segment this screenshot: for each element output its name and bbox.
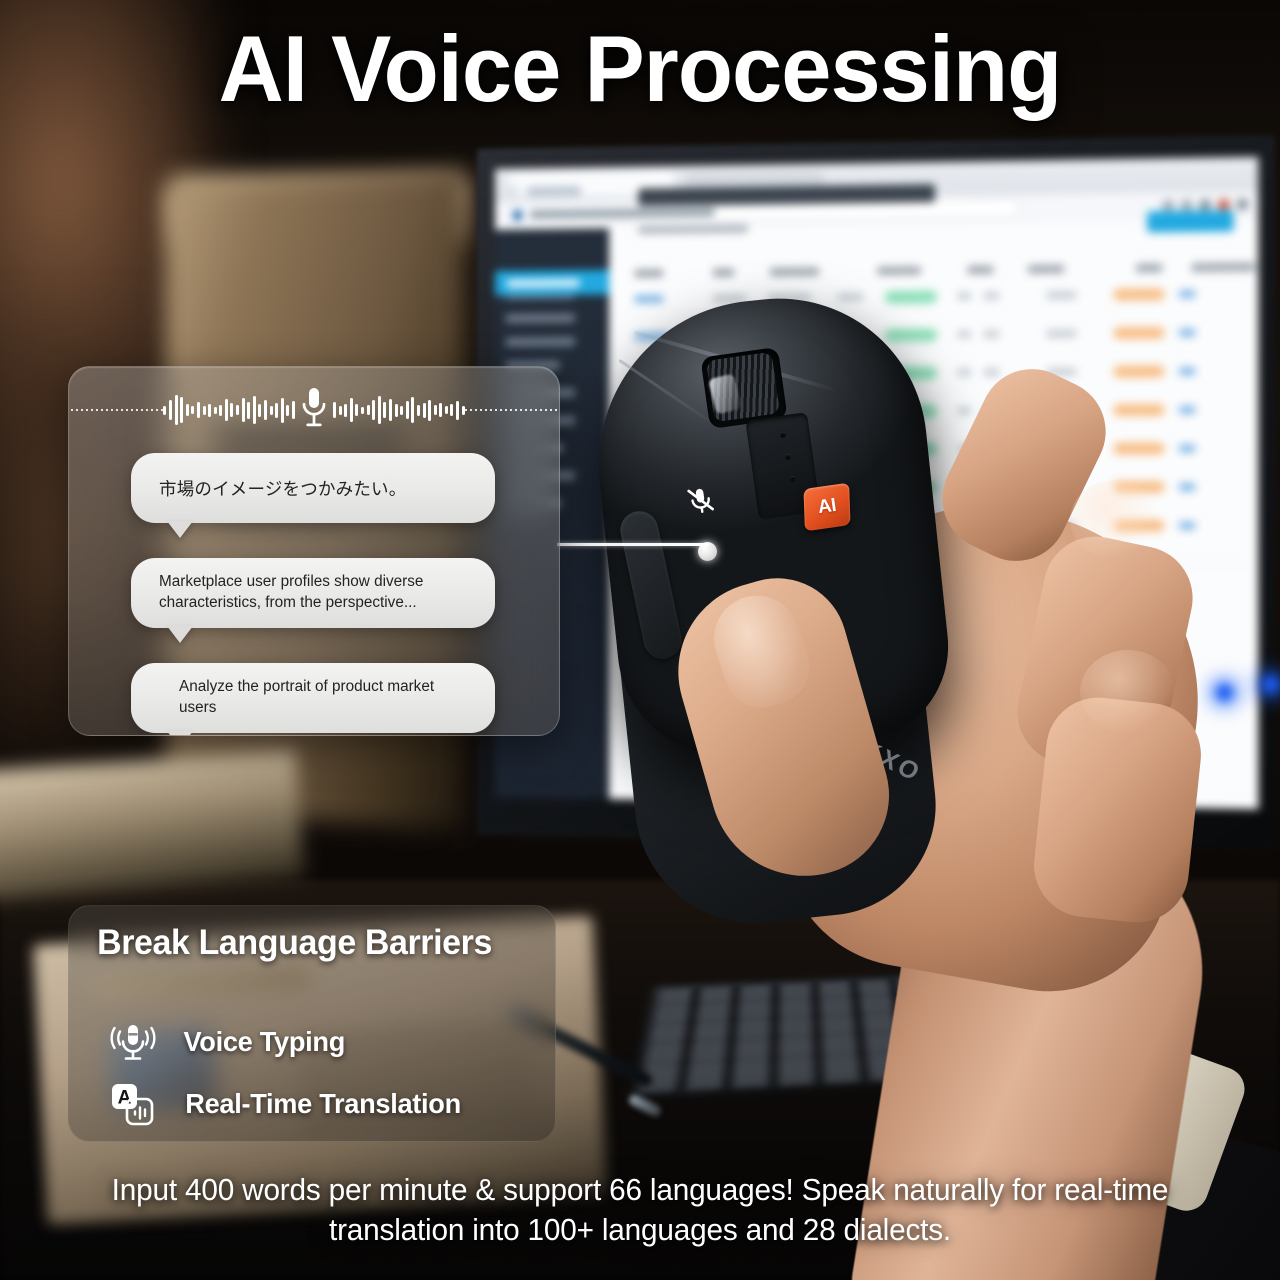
mic-mute-icon <box>684 483 719 522</box>
waveform-dots-right <box>465 409 557 411</box>
knuckle-highlight <box>1080 650 1176 734</box>
feature-row-voice-typing: Voice Typing <box>107 1016 348 1068</box>
microphone-waves-icon <box>107 1016 159 1068</box>
bottom-caption: Input 400 words per minute & support 66 … <box>64 1170 1216 1249</box>
chat-bubble: Marketplace user profiles show diverse c… <box>131 558 495 628</box>
feature-row-translation: A Real-Time Translation <box>107 1078 465 1130</box>
bubble-tail <box>167 731 193 736</box>
microphone-icon <box>299 386 329 435</box>
hand-holding-mouse: AI M IKXO <box>600 180 1280 1240</box>
svg-text:A: A <box>118 1088 132 1109</box>
sidebar-logo-text <box>527 186 581 196</box>
product-marketing-image: AI M IKXO AI Voice Processing <box>0 0 1280 1280</box>
chat-bubble-text: Marketplace user profiles show diverse c… <box>131 572 495 613</box>
sidebar-active-label <box>507 279 580 288</box>
feature-panel: Break Language Barriers Voice Typing <box>68 905 556 1142</box>
feature-label: Voice Typing <box>183 1026 345 1058</box>
feature-label: Real-Time Translation <box>185 1088 461 1120</box>
chat-bubble-text: 市場のイメージをつかみたい。 <box>131 476 434 501</box>
chat-bubble: 市場のイメージをつかみたい。 <box>131 453 495 523</box>
sidebar-item <box>506 337 575 346</box>
waveform-dots-left <box>71 409 163 411</box>
page-title: AI Voice Processing <box>26 22 1255 116</box>
waveform-bars-right <box>333 393 465 427</box>
waveform-bars-left <box>163 393 295 427</box>
ai-button-label: AI <box>817 495 838 519</box>
sidebar-item <box>506 314 575 323</box>
voice-assistant-panel: 市場のイメージをつかみたい。 Marketplace user profiles… <box>68 366 560 736</box>
translate-icon: A <box>107 1078 159 1130</box>
bubble-tail <box>167 521 193 538</box>
feature-panel-heading: Break Language Barriers <box>97 923 492 963</box>
bubble-tail <box>167 626 193 643</box>
chat-bubble-text: Analyze the portrait of product market u… <box>131 677 495 718</box>
callout-connector-line <box>557 543 709 546</box>
knuckle-highlight <box>1070 480 1160 560</box>
chat-bubble: Analyze the portrait of product market u… <box>131 663 495 733</box>
ai-button[interactable]: AI <box>803 483 850 532</box>
paper-stack <box>0 749 304 902</box>
voice-waveform <box>69 383 559 437</box>
